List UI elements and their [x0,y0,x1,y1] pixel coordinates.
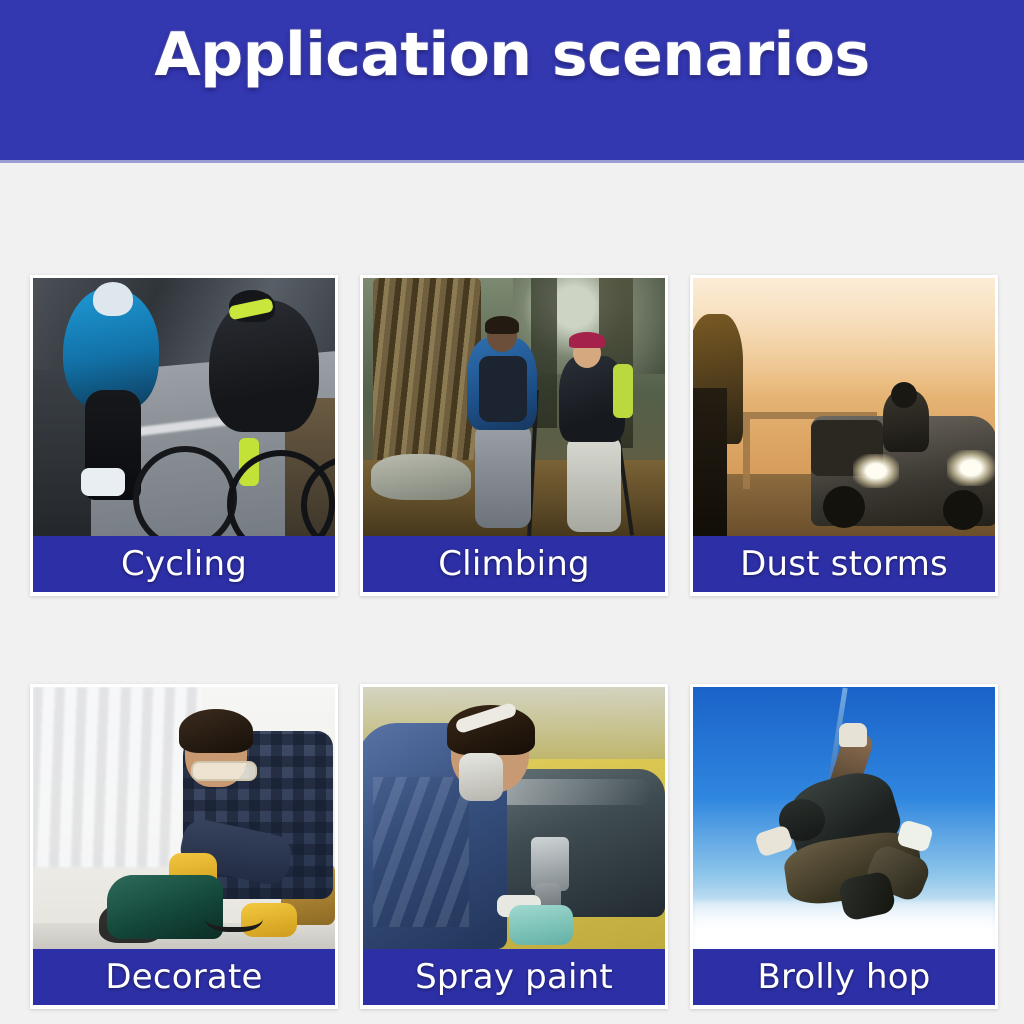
page-title: Application scenarios [0,18,1024,92]
cyclist-blue-helmet [93,282,133,316]
dust-pole-silhouette [693,388,727,536]
decorate-photo [33,687,335,949]
hiker-male-legs [475,424,531,528]
decorate-power-cord [205,899,263,932]
hiker-male-backpack [479,356,527,422]
spray-paint-photo [363,687,665,949]
scenario-tile-brolly-hop[interactable]: Brolly hop [690,684,998,1009]
cycling-photo [33,278,335,536]
scenario-tile-cycling[interactable]: Cycling [30,275,338,596]
climbing-rock [371,454,471,500]
spray-coverall-folds [373,777,469,927]
skydiver-raised-hand [839,723,867,747]
respirator-mask-icon [459,753,503,801]
dust-truck-wheel-front [823,486,865,528]
dust-driver-head [891,382,917,408]
decorate-worker-hair [179,709,253,753]
scenario-tile-dust-storms[interactable]: Dust storms [690,275,998,596]
page-header-banner: Application scenarios [0,0,1024,163]
scenario-caption-decorate: Decorate [33,949,335,1005]
hiker-female-bandana [569,332,605,348]
dust-truck-wheel-rear [943,490,983,530]
scenario-tile-climbing[interactable]: Climbing [360,275,668,596]
scenario-tile-decorate[interactable]: Decorate [30,684,338,1009]
scenario-tile-spray-paint[interactable]: Spray paint [360,684,668,1009]
brolly-hop-photo [693,687,995,949]
climbing-photo [363,278,665,536]
dust-storms-photo [693,278,995,536]
hiker-female-legs [567,436,621,532]
climbing-large-trunk [373,278,481,478]
scenario-caption-brolly-hop: Brolly hop [693,949,995,1005]
dust-headlight-left [853,454,899,488]
scenario-caption-dust-storms: Dust storms [693,536,995,592]
scenario-caption-spray-paint: Spray paint [363,949,665,1005]
safety-goggles-icon [191,761,257,781]
scenario-grid: Cycling [30,275,998,1009]
scenario-caption-climbing: Climbing [363,536,665,592]
hiker-female-pack-accent [613,364,633,418]
scenario-row-2: Decorate [30,684,998,1009]
scenario-row-1: Cycling [30,275,998,596]
scenario-caption-cycling: Cycling [33,536,335,592]
hiker-male-hair [485,316,519,334]
dust-headlight-right [947,450,995,486]
cyclist-blue-shoe [81,468,125,496]
application-scenarios-page: Application scenarios [0,0,1024,1024]
decorate-window-blinds [33,687,203,867]
spray-nitrile-glove [509,905,573,945]
